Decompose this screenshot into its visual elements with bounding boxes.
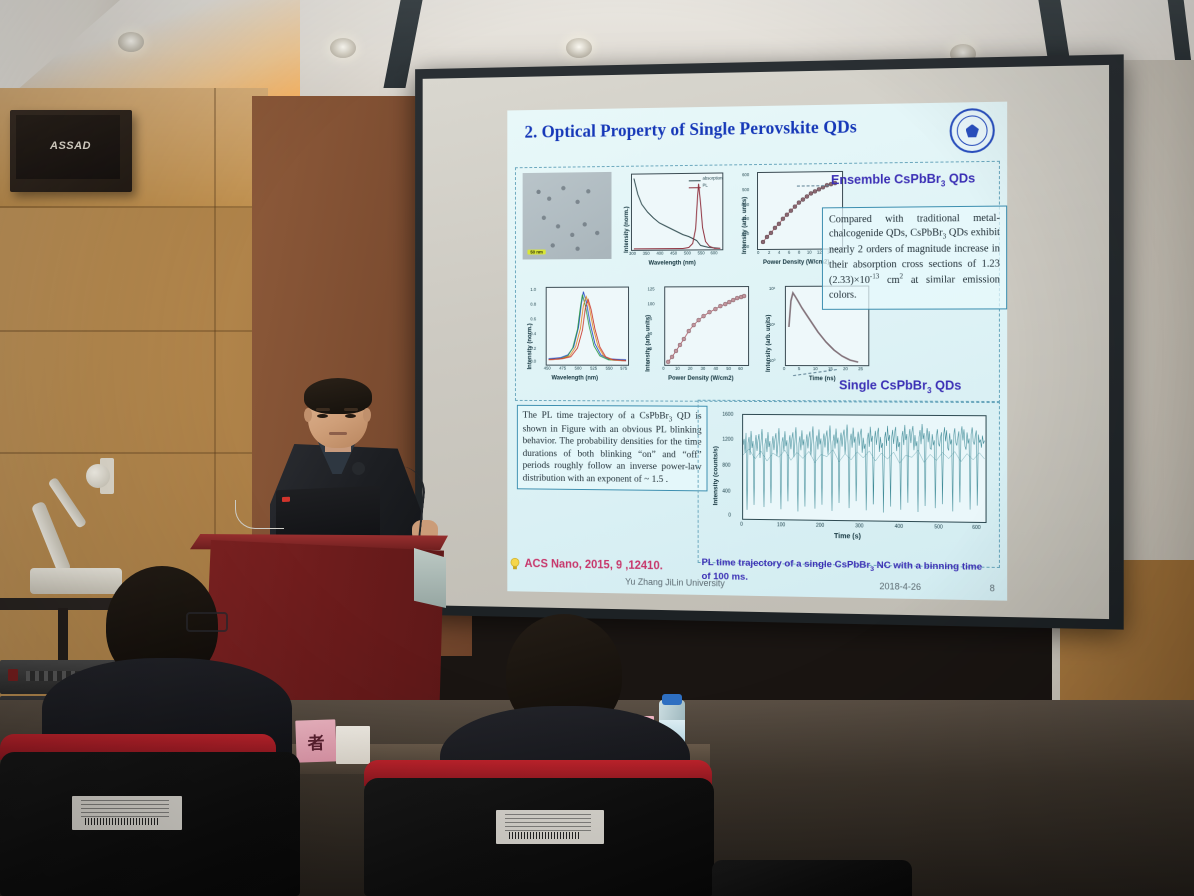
chart-decay-xlabel: Time (ns) <box>809 376 836 382</box>
chart-blink-xtick-6: 600 <box>972 525 981 531</box>
callout-single: Single CsPbBr3 QDs <box>839 378 961 395</box>
callout-ensemble-pre: Ensemble CsPbBr <box>831 172 941 187</box>
chart-abs-xtick-4: 500 <box>684 250 691 255</box>
chart-ssat-xlabel: Power Density (W/cm2) <box>668 376 733 382</box>
wall-seam-3 <box>0 452 268 454</box>
chart-abs-xtick-0: 300 <box>629 251 636 256</box>
chart-blink-xtick-5: 500 <box>934 524 943 530</box>
visualizer-base <box>30 568 122 594</box>
chart-ens-xtick-0: 0 <box>757 250 759 255</box>
chart-ens-xtick-2: 4 <box>778 250 780 255</box>
chart-abs-xtick-1: 350 <box>643 251 650 256</box>
lecture-hall-photo: ASSAD 2. Optical Property of Single Pero… <box>0 0 1194 896</box>
chart-decay-ytick-1: 10¹ <box>769 322 775 327</box>
chart-ens-ytick-5: 600 <box>742 172 749 177</box>
callout-single-pre: Single CsPbBr <box>839 378 927 392</box>
downlight-2 <box>330 38 356 58</box>
chart-ssat-xtick-5: 50 <box>726 366 731 371</box>
slide-title: 2. Optical Property of Single Perovskite… <box>525 116 857 142</box>
bottle-cap <box>662 694 682 705</box>
asset-tag-barcode-2 <box>509 832 580 839</box>
speaker-ear-left <box>304 408 312 422</box>
footer-author: Yu Zhang JiLin University <box>625 577 725 589</box>
av-table-leg <box>58 608 68 668</box>
callout-ensemble: Ensemble CsPbBr3 QDs <box>831 171 975 189</box>
chart-blink-xtick-2: 200 <box>816 523 824 529</box>
chart-ssat-xtick-3: 30 <box>701 366 706 371</box>
chart-ens-xtick-3: 6 <box>788 250 790 255</box>
chair-right-partial[interactable] <box>712 860 912 896</box>
chart-blink-xtick-4: 400 <box>895 524 903 530</box>
chart-blink-xtick-1: 100 <box>777 522 785 528</box>
textbox-blinking-description: The PL time trajectory of a CsPbBr3 QD i… <box>517 405 708 492</box>
chart-abs-xtick-6: 600 <box>710 250 717 255</box>
chart-blink-ylabel: Intensity (counts/s) <box>712 446 719 505</box>
speaker-brow-left <box>316 408 330 411</box>
footer-date: 2018-4-26 <box>879 581 921 592</box>
chart-ssat-xtick-0: 0 <box>662 366 664 371</box>
chart-blink-ytick-0: 0 <box>728 513 731 519</box>
chart-spl-xtick-2: 500 <box>575 366 582 371</box>
tem-micrograph: 50 nm <box>523 172 612 260</box>
chart-blink-ytick-3: 1200 <box>722 437 733 443</box>
asset-tag-text-lines <box>81 800 169 818</box>
chart-spl-xtick-3: 525 <box>590 366 597 371</box>
chart-spl-ytick-1: 0.2 <box>530 346 536 351</box>
projection-screen: 2. Optical Property of Single Perovskite… <box>415 54 1124 629</box>
chart-blink-plotarea <box>742 414 986 523</box>
chart-spl-ytick-0: 0.0 <box>530 359 536 364</box>
textbox-ensemble-description: Compared with traditional metal-chalcoge… <box>822 206 1007 310</box>
chart-ssat-svg <box>665 287 748 365</box>
microphone-head[interactable] <box>352 462 365 475</box>
chart-ssat-ytick-4: 100 <box>648 301 655 306</box>
chart-spl-xlabel: Wavelength (nm) <box>551 375 598 381</box>
chart-ens-ytick-3: 400 <box>742 202 749 207</box>
chart-decay-xtick-5: 25 <box>858 366 863 371</box>
chart-abs-plotarea: absorption PL <box>631 172 723 250</box>
tem-scale-bar: 50 nm <box>527 250 545 255</box>
citation-text: ACS Nano, 2015, 9 ,12410. <box>525 558 663 572</box>
chart-blink-xlabel: Time (s) <box>834 533 861 540</box>
chart-spl-xtick-0: 450 <box>544 366 551 371</box>
chart-ens-ytick-1: 200 <box>742 231 749 236</box>
chair-center[interactable] <box>364 778 714 896</box>
chart-abs-svg <box>632 173 722 249</box>
chart-abs-xtick-3: 450 <box>670 251 677 256</box>
chart-single-saturation: Intensity (arb. units) <box>641 284 755 392</box>
speaker-brow-right <box>344 408 358 411</box>
chart-abs-ylabel: Intensity (norm.) <box>624 206 630 253</box>
lightbulb-icon <box>509 557 520 571</box>
chart-spl-xtick-5: 575 <box>620 366 627 371</box>
chart-blink-xtick-0: 0 <box>740 522 743 528</box>
speaker-hair <box>304 378 372 414</box>
speaker-ear-right <box>363 408 371 422</box>
chart-single-pl-spectra: Intensity (norm.) 1.0 0.8 0.6 <box>523 285 635 392</box>
chart-blink-ytick-1: 400 <box>722 489 730 495</box>
wall-seam-1 <box>0 206 268 208</box>
speaker-eye-left <box>317 414 328 418</box>
chart-spl-ytick-5: 1.0 <box>530 287 536 292</box>
podium-side-panel <box>414 548 446 608</box>
chart-ens-xlabel: Power Density (W/cm2) <box>763 260 829 266</box>
asset-tag-text-lines-2 <box>505 814 591 832</box>
wall-seam-2 <box>0 330 268 332</box>
chart-pl-time-trajectory: Intensity (counts/s) 1600 1200 800 400 0… <box>707 406 997 560</box>
asset-tag-barcode <box>85 818 158 825</box>
visualizer-camera-head <box>86 464 110 488</box>
asset-tag-left <box>72 796 182 830</box>
chart-blink-svg <box>743 415 985 522</box>
chart-spl-plotarea <box>546 287 629 366</box>
callout-single-post: QDs <box>932 378 962 392</box>
seal-core <box>966 124 979 137</box>
caption-pre: PL time trajectory of a single CsPbBr <box>702 557 871 571</box>
chart-spl-xtick-1: 475 <box>559 366 566 371</box>
chart-ssat-xtick-4: 40 <box>713 366 718 371</box>
speaker-mouth <box>329 432 347 435</box>
chart-ssat-ytick-1: 25 <box>648 346 653 351</box>
chart-ssat-xtick-6: 60 <box>738 366 743 371</box>
chart-blink-ytick-4: 1600 <box>722 412 733 418</box>
rack-power-switch[interactable] <box>8 669 18 681</box>
chart-spl-xtick-4: 550 <box>606 366 613 371</box>
university-seal-icon <box>950 108 995 153</box>
chart-abs-xtick-5: 550 <box>698 250 705 255</box>
chart-ens-xtick-5: 10 <box>807 250 812 255</box>
chart-blink-ytick-2: 800 <box>722 463 730 469</box>
speaker-brand-label: ASSAD <box>50 140 91 152</box>
chart-abs-xtick-2: 400 <box>656 251 663 256</box>
chart-ssat-plotarea <box>664 286 749 366</box>
chart-ens-ytick-4: 500 <box>742 187 749 192</box>
chart-spl-svg <box>547 288 628 365</box>
chart-decay-xtick-1: 5 <box>798 366 800 371</box>
namecard-1-back <box>336 726 370 764</box>
downlight-3 <box>566 38 592 58</box>
eyeglasses-left-audience <box>186 612 228 632</box>
chart-spl-ytick-3: 0.6 <box>530 316 536 321</box>
presentation-slide: 2. Optical Property of Single Perovskite… <box>507 102 1007 601</box>
speaker-eye-right <box>345 414 356 418</box>
namecard-1: 者 <box>295 719 336 762</box>
tem-image: 50 nm <box>523 172 612 260</box>
chair-left[interactable] <box>0 752 300 896</box>
chart-ssat-ytick-5: 125 <box>648 286 655 291</box>
chart-spl-ytick-4: 0.8 <box>530 302 536 307</box>
chart-ssat-ytick-2: 50 <box>648 331 653 336</box>
downlight-1 <box>118 32 144 52</box>
microphone-gooseneck[interactable] <box>366 463 427 538</box>
chart-ssat-xtick-2: 20 <box>688 366 693 371</box>
chart-ens-ytick-2: 300 <box>742 216 749 221</box>
chart-ens-ytick-0: 100 <box>742 244 749 249</box>
chart-abs-legend-pl: PL <box>703 183 708 188</box>
chart-ens-xtick-4: 8 <box>798 250 800 255</box>
chart-blink-xtick-3: 300 <box>855 523 863 529</box>
callout-ensemble-post: QDs <box>945 171 975 186</box>
chart-ssat-ytick-3: 75 <box>648 316 653 321</box>
chart-ssat-ytick-0: 0 <box>648 360 650 365</box>
chart-decay-ytick-2: 10² <box>769 286 775 291</box>
chart-decay-xtick-2: 10 <box>813 366 818 371</box>
chart-abs-xlabel: Wavelength (nm) <box>649 260 696 266</box>
microphone-cable <box>235 500 284 529</box>
chart-decay-xtick-4: 20 <box>843 366 848 371</box>
chart-spl-ytick-2: 0.4 <box>530 331 536 336</box>
footer-page-number: 8 <box>990 583 995 593</box>
chart-abs-legend-absorption: absorption <box>703 175 723 180</box>
chart-decay-xtick-0: 0 <box>783 366 785 371</box>
wall-speaker: ASSAD <box>10 110 132 192</box>
chart-absorption-pl: Intensity (norm.) absorption PL 300 <box>619 170 727 274</box>
asset-tag-center <box>496 810 604 844</box>
seal-inner-ring <box>957 115 988 146</box>
chart-ens-xtick-1: 2 <box>768 250 770 255</box>
chart-decay-ytick-0: 10⁰ <box>769 358 775 364</box>
screen-surface: 2. Optical Property of Single Perovskite… <box>423 65 1109 619</box>
chart-ssat-xtick-1: 10 <box>675 366 680 371</box>
